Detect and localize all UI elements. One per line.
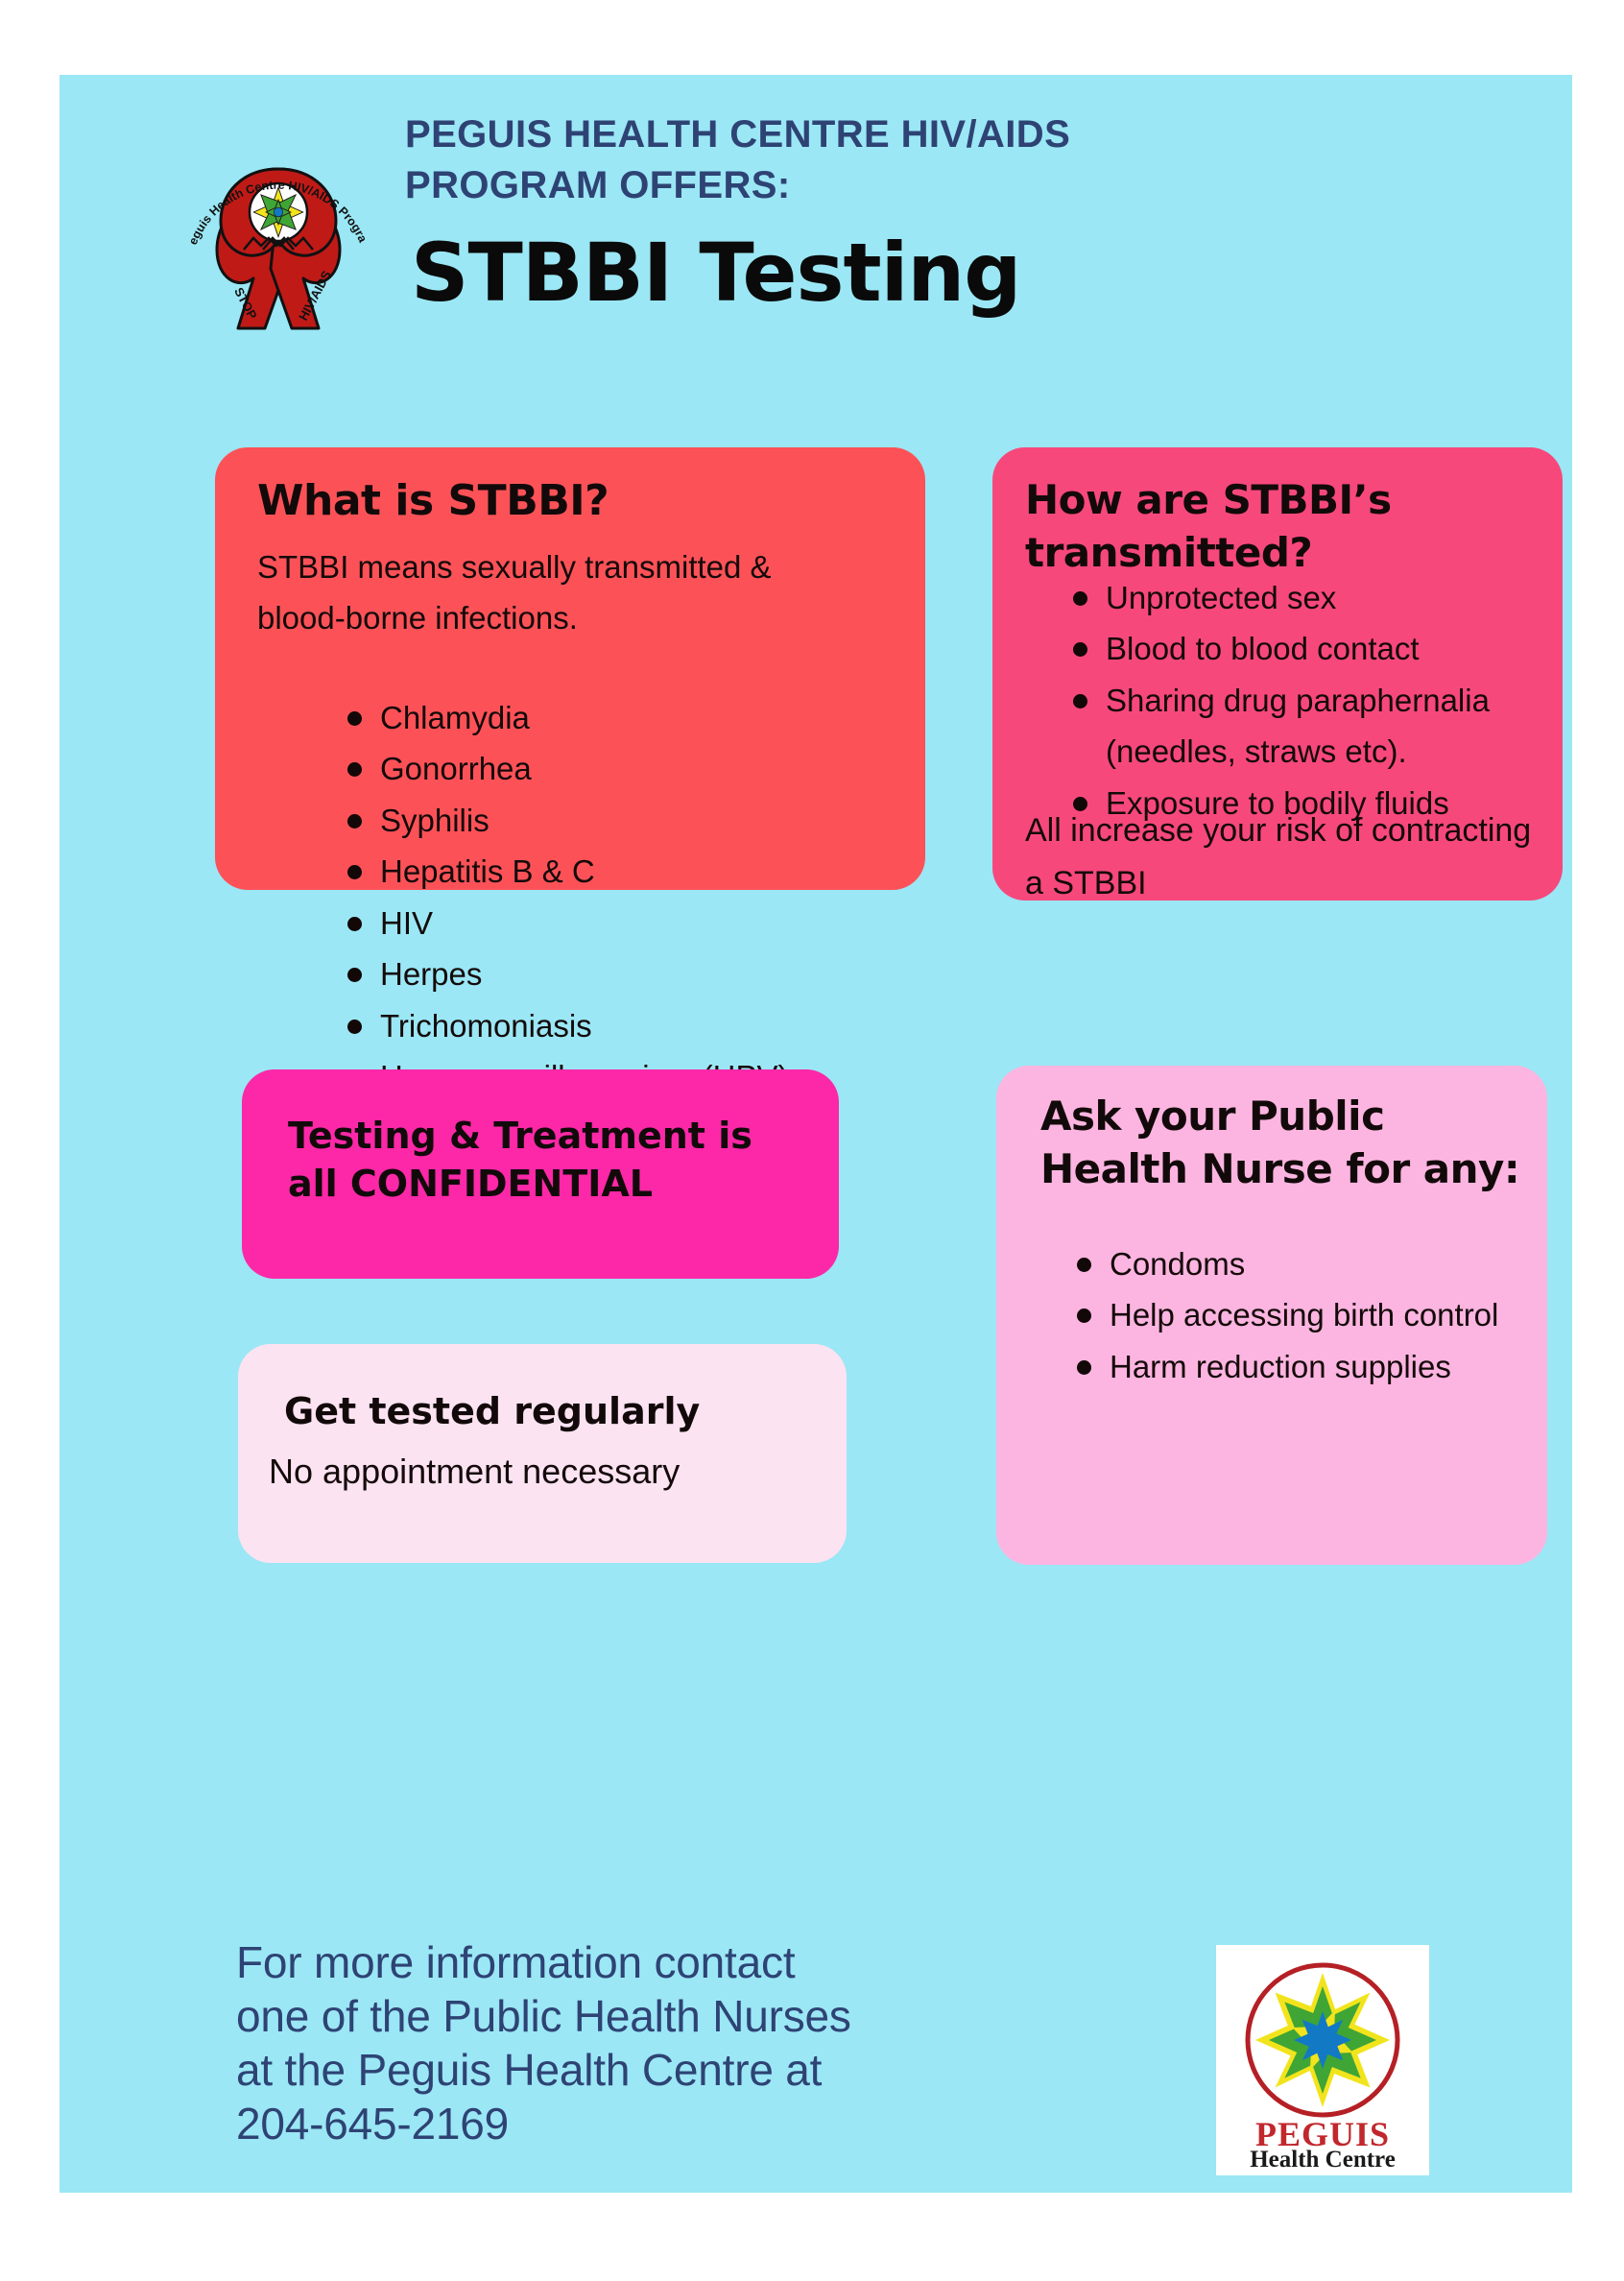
peguis-logo-subtitle: Health Centre bbox=[1216, 2147, 1429, 2173]
list-item: Chlamydia bbox=[321, 692, 896, 743]
page-title: STBBI Testing bbox=[411, 232, 1480, 313]
card-get-tested-subtitle: No appointment necessary bbox=[269, 1452, 825, 1492]
card-ask-nurse: Ask your Public Health Nurse for any: Co… bbox=[996, 1066, 1547, 1565]
peguis-star-emblem-icon bbox=[1241, 1958, 1404, 2122]
program-kicker-line-2: PROGRAM OFFERS: bbox=[405, 160, 1480, 211]
list-item: Herpes bbox=[321, 948, 896, 999]
list-item: Sharing drug paraphernalia (needles, str… bbox=[1050, 675, 1549, 778]
card-what-is-stbbi-title: What is STBBI? bbox=[257, 476, 609, 525]
poster-header: Peguis Health Centre HIV/AIDS Program ST… bbox=[60, 75, 1572, 363]
contact-line-2: one of the Public Health Nurses bbox=[236, 1989, 1062, 2043]
contact-info-text: For more information contact one of the … bbox=[236, 1935, 1062, 2150]
list-item: Blood to blood contact bbox=[1050, 623, 1549, 674]
list-item: Condoms bbox=[1054, 1238, 1534, 1289]
contact-phone-number: 204-645-2169 bbox=[236, 2097, 1062, 2150]
card-get-tested: Get tested regularly No appointment nece… bbox=[238, 1344, 847, 1563]
nurse-supplies-list: Condoms Help accessing birth control Har… bbox=[1054, 1238, 1534, 1392]
list-item: Syphilis bbox=[321, 795, 896, 846]
stbbi-infection-list: Chlamydia Gonorrhea Syphilis Hepatitis B… bbox=[321, 692, 896, 1103]
card-how-transmitted: How are STBBI’s transmitted? Unprotected… bbox=[992, 447, 1563, 900]
card-confidential-title: Testing & Treatment is all CONFIDENTIAL bbox=[288, 1112, 806, 1208]
card-how-transmitted-title: How are STBBI’s transmitted? bbox=[1025, 474, 1524, 579]
card-confidential: Testing & Treatment is all CONFIDENTIAL bbox=[242, 1069, 839, 1279]
list-item: Unprotected sex bbox=[1050, 572, 1549, 623]
list-item: HIV bbox=[321, 898, 896, 948]
header-text-block: PEGUIS HEALTH CENTRE HIV/AIDS PROGRAM OF… bbox=[405, 109, 1480, 313]
card-ask-nurse-title: Ask your Public Health Nurse for any: bbox=[1040, 1091, 1520, 1195]
transmission-route-list: Unprotected sex Blood to blood contact S… bbox=[1050, 572, 1549, 828]
card-what-is-stbbi: What is STBBI? STBBI means sexually tran… bbox=[215, 447, 925, 890]
card-get-tested-title: Get tested regularly bbox=[284, 1390, 700, 1432]
card-how-transmitted-footnote: All increase your risk of contracting a … bbox=[1025, 804, 1534, 910]
card-what-is-stbbi-paragraph: STBBI means sexually transmitted & blood… bbox=[257, 541, 862, 644]
poster-canvas: Peguis Health Centre HIV/AIDS Program ST… bbox=[60, 75, 1572, 2193]
list-item: Harm reduction supplies bbox=[1054, 1341, 1534, 1392]
contact-line-3: at the Peguis Health Centre at bbox=[236, 2043, 1062, 2097]
list-item: Help accessing birth control bbox=[1054, 1289, 1534, 1340]
list-item: Hepatitis B & C bbox=[321, 846, 896, 897]
program-kicker-line-1: PEGUIS HEALTH CENTRE HIV/AIDS bbox=[405, 109, 1480, 160]
program-kicker: PEGUIS HEALTH CENTRE HIV/AIDS PROGRAM OF… bbox=[405, 109, 1480, 211]
list-item: Gonorrhea bbox=[321, 743, 896, 794]
list-item: Trichomoniasis bbox=[321, 1000, 896, 1051]
contact-line-1: For more information contact bbox=[236, 1935, 1062, 1989]
hiv-aids-ribbon-logo: Peguis Health Centre HIV/AIDS Program ST… bbox=[182, 100, 374, 340]
peguis-health-centre-logo: PEGUIS Health Centre bbox=[1216, 1945, 1429, 2175]
